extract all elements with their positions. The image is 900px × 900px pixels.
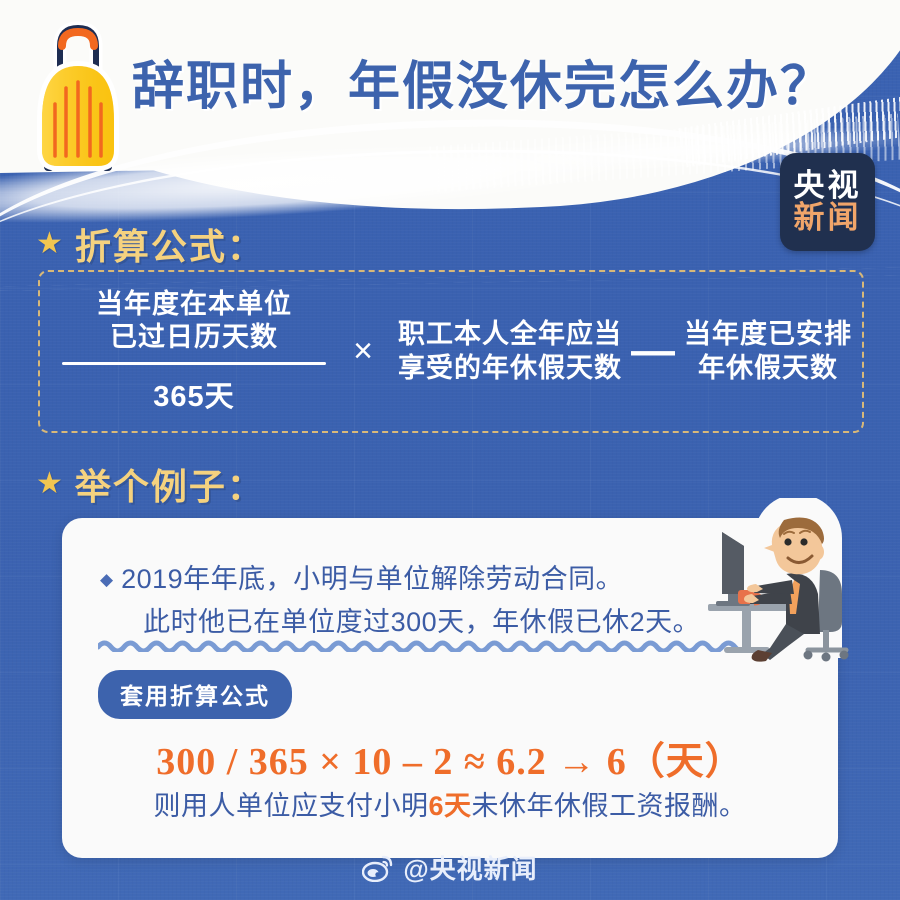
fraction-numerator: 当年度在本单位 已过日历天数 bbox=[60, 288, 328, 354]
fraction-denominator: 365天 bbox=[60, 373, 328, 415]
footer: @央视新闻 bbox=[0, 849, 900, 886]
example-heading-text: 举个例子： bbox=[75, 458, 265, 510]
term3-line-2: 年休假天数 bbox=[684, 352, 852, 386]
footer-handle: @央视新闻 bbox=[403, 849, 537, 886]
conclusion-suffix: 未休年休假工资报酬。 bbox=[472, 791, 747, 821]
wavy-divider bbox=[98, 638, 748, 652]
term2-line-1: 职工本人全年应当 bbox=[398, 318, 622, 352]
infographic-poster: 辞职时，年假没休完怎么办？ 央视 新闻 ★ 折算公式： 当年度在本单位 已过日历… bbox=[0, 0, 900, 900]
example-case-block: ◆ 2019年年底，小明与单位解除劳动合同。 此时他已在单位度过300天，年休假… bbox=[100, 558, 790, 643]
case-bullet-row: ◆ 2019年年底，小明与单位解除劳动合同。 此时他已在单位度过300天，年休假… bbox=[100, 558, 790, 643]
conclusion-text: 则用人单位应支付小明6天未休年休假工资报酬。 bbox=[62, 784, 838, 823]
term2-line-2: 享受的年休假天数 bbox=[398, 352, 622, 386]
example-section-heading: ★ 举个例子： bbox=[36, 458, 265, 510]
fraction-bar bbox=[62, 362, 326, 365]
conclusion-prefix: 则用人单位应支付小明 bbox=[153, 791, 428, 821]
formula-section-heading: ★ 折算公式： bbox=[36, 218, 265, 270]
formula-heading-text: 折算公式： bbox=[75, 218, 265, 270]
logo-line-bottom: 新闻 bbox=[794, 202, 862, 234]
diamond-bullet-icon: ◆ bbox=[100, 558, 113, 602]
conclusion-highlight: 6天 bbox=[428, 791, 471, 821]
apply-formula-badge: 套用折算公式 bbox=[98, 670, 292, 719]
calculation-expression: 300 / 365 × 10 – 2 ≈ 6.2 → 6（天） bbox=[62, 730, 838, 785]
logo-line-top: 央视 bbox=[794, 170, 862, 202]
cctv-news-logo: 央视 新闻 bbox=[780, 153, 875, 251]
weibo-icon bbox=[362, 854, 394, 882]
case-text: 2019年年底，小明与单位解除劳动合同。 此时他已在单位度过300天，年休假已休… bbox=[121, 558, 700, 643]
numerator-line-1: 当年度在本单位 bbox=[60, 288, 328, 321]
minus-symbol: — bbox=[622, 338, 684, 364]
case-line-2: 此时他已在单位度过300天，年休假已休2天。 bbox=[121, 601, 700, 644]
numerator-line-2: 已过日历天数 bbox=[60, 321, 328, 354]
case-line-1: 2019年年底，小明与单位解除劳动合同。 bbox=[121, 564, 623, 594]
star-icon: ★ bbox=[36, 229, 63, 259]
formula-box: 当年度在本单位 已过日历天数 365天 × 职工本人全年应当 享受的年休假天数 … bbox=[38, 270, 864, 433]
page-title: 辞职时，年假没休完怎么办？ bbox=[132, 44, 834, 119]
term3-line-1: 当年度已安排 bbox=[684, 318, 852, 352]
formula-fraction: 当年度在本单位 已过日历天数 365天 bbox=[60, 288, 328, 416]
formula-term-3: 当年度已安排 年休假天数 bbox=[684, 318, 852, 386]
office-worker-illustration bbox=[700, 498, 885, 673]
suitcase-icon bbox=[22, 16, 142, 191]
formula-term-2: 职工本人全年应当 享受的年休假天数 bbox=[398, 318, 622, 386]
star-icon: ★ bbox=[36, 469, 63, 499]
multiply-symbol: × bbox=[328, 332, 398, 371]
